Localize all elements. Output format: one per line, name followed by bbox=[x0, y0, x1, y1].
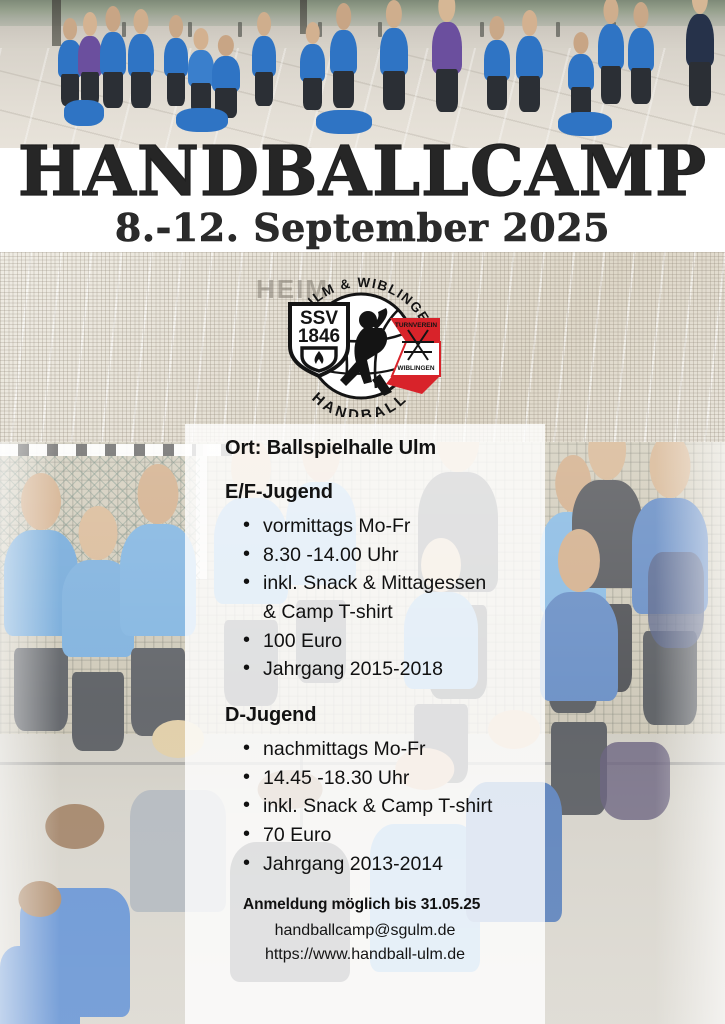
list-item: inkl. Snack & Mittagessen bbox=[243, 569, 531, 598]
page-subtitle-date: 8.-12. September 2025 bbox=[0, 205, 725, 250]
location-heading: Ort: Ballspielhalle Ulm bbox=[225, 436, 531, 461]
kid-figure bbox=[188, 50, 214, 114]
shield-year-text: 1846 bbox=[298, 326, 340, 347]
kid-lying bbox=[316, 110, 372, 134]
kid-figure bbox=[330, 30, 357, 108]
kid-figure bbox=[100, 32, 126, 108]
photo-top-outdoor bbox=[0, 0, 725, 150]
group-list-d: nachmittags Mo-Fr 14.45 -18.30 Uhr inkl.… bbox=[225, 735, 531, 878]
list-item: 14.45 -18.30 Uhr bbox=[243, 764, 531, 793]
list-item: Jahrgang 2015-2018 bbox=[243, 655, 531, 684]
club-logo: SG ULM & WIBLINGEN HANDBALL SSV 1846 bbox=[272, 272, 450, 417]
coach-figure bbox=[432, 22, 462, 112]
kid-figure bbox=[380, 28, 408, 110]
kid-seated bbox=[0, 912, 80, 1024]
title-band: HANDBALLCAMP 8.-12. September 2025 bbox=[0, 148, 725, 252]
list-item: inkl. Snack & Camp T-shirt bbox=[243, 792, 531, 821]
list-item-continuation: & Camp T-shirt bbox=[243, 598, 531, 627]
bollard bbox=[480, 22, 484, 37]
kid-figure bbox=[164, 38, 188, 106]
group-list-ef: vormittags Mo-Fr 8.30 -14.00 Uhr inkl. S… bbox=[225, 512, 531, 684]
kid-figure bbox=[568, 54, 594, 118]
kid-figure bbox=[628, 28, 654, 104]
tree-trunk bbox=[52, 0, 61, 46]
page-title: HANDBALLCAMP bbox=[0, 138, 725, 206]
ssv-shield-icon: SSV 1846 bbox=[290, 304, 348, 376]
kid-figure bbox=[128, 34, 154, 108]
kid-figure bbox=[484, 40, 510, 110]
kid-figure bbox=[78, 36, 102, 106]
group-heading-d: D-Jugend bbox=[225, 704, 531, 727]
emblem-line2-text: WIBLINGEN bbox=[397, 365, 434, 372]
signup-deadline: Anmeldung möglich bis 31.05.25 bbox=[225, 896, 531, 914]
contact-website[interactable]: https://www.handball-ulm.de bbox=[225, 946, 531, 964]
adult-figure bbox=[686, 14, 714, 106]
kid-figure bbox=[516, 36, 543, 112]
kid-figure bbox=[300, 44, 325, 110]
kid-figure bbox=[252, 36, 276, 106]
contact-email[interactable]: handballcamp@sgulm.de bbox=[225, 922, 531, 940]
bollard bbox=[556, 22, 560, 37]
list-item: nachmittags Mo-Fr bbox=[243, 735, 531, 764]
bollard bbox=[188, 22, 192, 37]
handball-camp-poster: HANDBALLCAMP 8.-12. September 2025 HEIM bbox=[0, 0, 725, 1024]
bollard bbox=[122, 22, 126, 37]
list-item: vormittags Mo-Fr bbox=[243, 512, 531, 541]
backpack bbox=[600, 742, 670, 820]
info-overlay-panel: Ort: Ballspielhalle Ulm E/F-Jugend vormi… bbox=[185, 424, 545, 1024]
list-item: Jahrgang 2013-2014 bbox=[243, 850, 531, 879]
kid-figure bbox=[598, 24, 624, 104]
backpack bbox=[648, 552, 704, 648]
emblem-line1-text: TURNVEREIN bbox=[395, 322, 438, 329]
list-item: 8.30 -14.00 Uhr bbox=[243, 541, 531, 570]
list-item: 70 Euro bbox=[243, 821, 531, 850]
bollard bbox=[378, 22, 382, 37]
group-heading-ef: E/F-Jugend bbox=[225, 481, 531, 504]
bollard bbox=[238, 22, 242, 37]
list-item: 100 Euro bbox=[243, 627, 531, 656]
kid-lying bbox=[176, 108, 228, 132]
kid-sitting bbox=[64, 100, 104, 126]
